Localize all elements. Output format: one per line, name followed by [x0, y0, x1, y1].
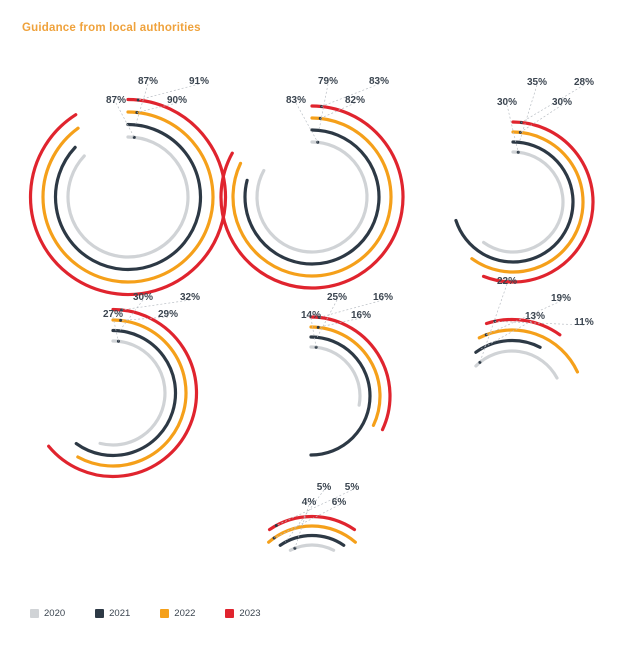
- donut-chart-canvas: [0, 0, 624, 653]
- bubble-over-the-phone-helpline: [267, 150, 357, 244]
- legend-swatch-icon-2021: [95, 609, 104, 618]
- value-label-other-2020: 22%: [497, 276, 517, 287]
- value-label-none-of-these-2022: 6%: [332, 497, 346, 508]
- value-label-consultative-advice-2022: 30%: [552, 97, 572, 108]
- value-label-advance-transfer-pricing-agreement-2023: 32%: [180, 292, 200, 303]
- arc-over-the-phone-helpline-2023: [221, 106, 403, 288]
- arc-online-guidance-2020: [68, 137, 188, 257]
- legend-item-2023[interactable]: 2023: [225, 608, 260, 619]
- value-label-advance-transfer-pricing-agreement-2021: 30%: [133, 292, 153, 303]
- value-label-over-the-phone-helpline-2023: 83%: [369, 76, 389, 87]
- arc-advance-transfer-pricing-agreement-2020: [100, 341, 165, 445]
- leader-consultative-advice-2020: [507, 105, 518, 152]
- value-label-over-the-phone-helpline-2020: 83%: [286, 95, 306, 106]
- leader-online-guidance-2021: [136, 84, 148, 125]
- value-label-other-2021: 13%: [525, 311, 545, 322]
- arc-consultative-advice-2020: [484, 152, 563, 252]
- value-label-over-the-phone-helpline-2022: 82%: [345, 95, 365, 106]
- value-label-consultative-advice-2020: 30%: [497, 97, 517, 108]
- bubble-compliance-assurance-programmes: [272, 355, 350, 436]
- arc-over-the-phone-helpline-2020: [257, 142, 367, 252]
- value-label-compliance-assurance-programmes-2020: 14%: [301, 310, 321, 321]
- value-label-online-guidance-2021: 87%: [138, 76, 158, 87]
- value-label-advance-transfer-pricing-agreement-2022: 29%: [158, 309, 178, 320]
- legend-label-2023: 2023: [239, 608, 260, 619]
- leader-compliance-assurance-programmes-2020: [311, 318, 316, 347]
- arc-online-guidance-2023: [31, 100, 226, 295]
- legend-label-2022: 2022: [174, 608, 195, 619]
- value-label-other-2023: 11%: [574, 317, 593, 328]
- legend-label-2020: 2020: [44, 608, 65, 619]
- value-label-advance-transfer-pricing-agreement-2020: 27%: [103, 309, 123, 320]
- legend: 2020202120222023: [30, 608, 261, 619]
- legend-item-2020[interactable]: 2020: [30, 608, 65, 619]
- leader-online-guidance-2020: [116, 103, 134, 137]
- legend-swatch-icon-2023: [225, 609, 234, 618]
- leader-over-the-phone-helpline-2020: [296, 103, 318, 142]
- value-label-consultative-advice-2023: 28%: [574, 77, 594, 88]
- bubble-online-guidance: [79, 146, 177, 248]
- value-label-online-guidance-2023: 91%: [189, 76, 209, 87]
- arc-consultative-advice-2021: [456, 142, 573, 262]
- arc-advance-transfer-pricing-agreement-2021: [76, 331, 175, 456]
- legend-swatch-icon-2020: [30, 609, 39, 618]
- value-label-compliance-assurance-programmes-2023: 16%: [373, 292, 393, 303]
- arc-online-guidance-2021: [55, 125, 200, 270]
- bubble-none-of-these: [275, 554, 349, 631]
- value-label-compliance-assurance-programmes-2022: 16%: [351, 310, 371, 321]
- bubble-consultative-advice: [473, 160, 553, 243]
- bubble-layer: [71, 146, 553, 630]
- leader-line-layer: [113, 84, 584, 548]
- value-label-none-of-these-2023: 5%: [345, 482, 359, 493]
- value-label-none-of-these-2020: 4%: [302, 497, 316, 508]
- bubble-other: [471, 359, 553, 444]
- value-label-online-guidance-2020: 87%: [106, 95, 126, 106]
- legend-item-2021[interactable]: 2021: [95, 608, 130, 619]
- arc-over-the-phone-helpline-2021: [245, 130, 379, 264]
- value-label-none-of-these-2021: 5%: [317, 482, 331, 493]
- arc-other-2022: [479, 330, 577, 372]
- arc-other-2020: [476, 351, 557, 378]
- value-label-online-guidance-2022: 90%: [167, 95, 187, 106]
- value-label-consultative-advice-2021: 35%: [527, 77, 547, 88]
- value-label-over-the-phone-helpline-2021: 79%: [318, 76, 338, 87]
- legend-label-2021: 2021: [109, 608, 130, 619]
- bubble-advance-transfer-pricing-agreement: [71, 349, 155, 436]
- legend-swatch-icon-2022: [160, 609, 169, 618]
- arc-none-of-these-2020: [290, 545, 333, 550]
- legend-item-2022[interactable]: 2022: [160, 608, 195, 619]
- value-label-compliance-assurance-programmes-2021: 25%: [327, 292, 347, 303]
- arc-advance-transfer-pricing-agreement-2022: [78, 320, 186, 466]
- value-label-other-2022: 19%: [551, 293, 571, 304]
